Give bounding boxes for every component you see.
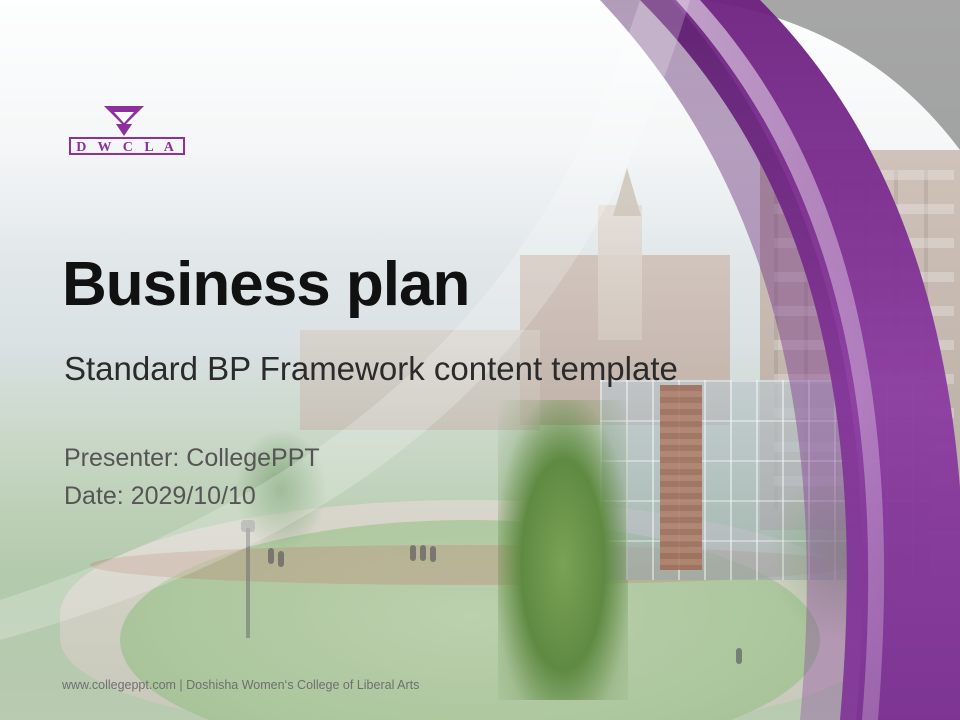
page-subtitle: Standard BP Framework content template	[64, 350, 678, 388]
church-tower	[598, 205, 642, 340]
footer-credit: www.collegeppt.com | Doshisha Women‘s Co…	[62, 678, 419, 692]
person-figure	[420, 545, 426, 561]
person-figure	[410, 545, 416, 561]
church-spire	[613, 168, 641, 216]
presentation-slide: D W C L A Business plan Standard BP Fram…	[0, 0, 960, 720]
logo-triangle-lower	[116, 124, 132, 136]
person-figure	[430, 546, 436, 562]
page-title: Business plan	[62, 252, 469, 317]
lamp-post	[246, 528, 250, 638]
person-figure	[268, 548, 274, 564]
logo-letters: D W C L A	[76, 140, 178, 155]
background-tree-right	[770, 470, 920, 640]
foreground-tree	[498, 400, 628, 700]
date-line: Date: 2029/10/10	[64, 482, 256, 511]
dwcla-logo: D W C L A	[68, 104, 186, 160]
person-figure	[278, 551, 284, 567]
presenter-line: Presenter: CollegePPT	[64, 444, 320, 473]
brick-column	[660, 385, 702, 570]
person-figure	[736, 648, 742, 664]
